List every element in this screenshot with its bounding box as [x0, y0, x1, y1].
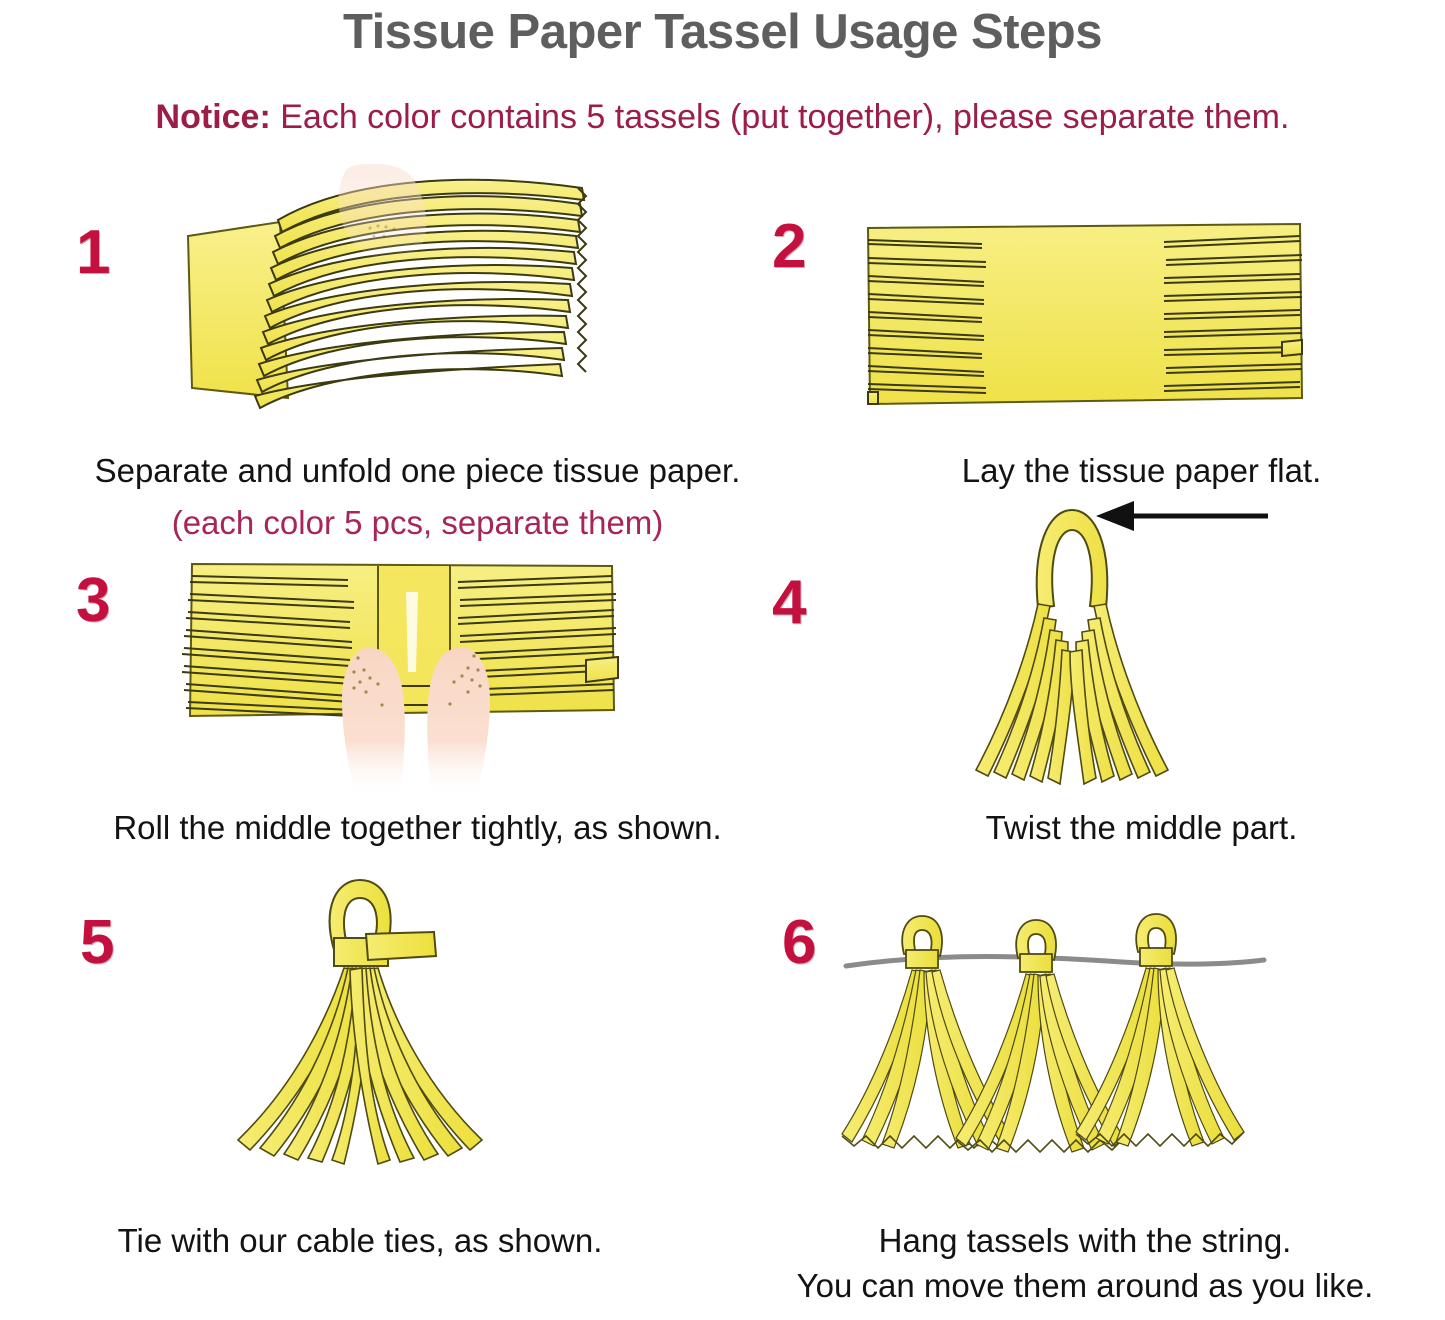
- step-1-number: 1: [76, 222, 110, 284]
- tissue-paper-tassel-instruction-sheet: Tissue Paper Tassel Usage Steps Notice: …: [0, 0, 1445, 1320]
- left-hand: [342, 647, 405, 798]
- step-4-number: 4: [772, 572, 806, 634]
- step-6-subcaption: You can move them around as you like.: [725, 1263, 1445, 1308]
- step-1-caption: Separate and unfold one piece tissue pap…: [0, 448, 835, 493]
- step-3-caption: Roll the middle together tightly, as sho…: [0, 805, 835, 850]
- step-4-caption: Twist the middle part.: [838, 805, 1445, 850]
- page-title: Tissue Paper Tassel Usage Steps: [0, 2, 1445, 62]
- step-2-number: 2: [772, 216, 806, 278]
- notice-label: Notice:: [156, 98, 271, 136]
- notice-line: Notice: Each color contains 5 tassels (p…: [0, 96, 1445, 138]
- step-3-number: 3: [76, 570, 110, 632]
- step-6-number: 6: [782, 912, 816, 974]
- step-2-illustration: [864, 222, 1304, 407]
- step-1-illustration: [170, 170, 600, 425]
- step-6-illustration: [832, 908, 1272, 1198]
- step-5-number: 5: [80, 912, 114, 974]
- step-4-illustration: [920, 500, 1250, 800]
- step-5-caption: Tie with our cable ties, as shown.: [0, 1218, 720, 1263]
- right-hand: [427, 647, 490, 798]
- step-5-illustration: [196, 872, 546, 1202]
- tassel-c: [1076, 914, 1244, 1146]
- step-3-illustration: [182, 560, 622, 800]
- step-1-subcaption: (each color 5 pcs, separate them): [0, 500, 835, 545]
- step-6-caption: Hang tassels with the string.: [725, 1218, 1445, 1263]
- step-4-arrow: [1086, 496, 1276, 536]
- notice-text: Each color contains 5 tassels (put toget…: [271, 98, 1290, 136]
- step-2-caption: Lay the tissue paper flat.: [838, 448, 1445, 493]
